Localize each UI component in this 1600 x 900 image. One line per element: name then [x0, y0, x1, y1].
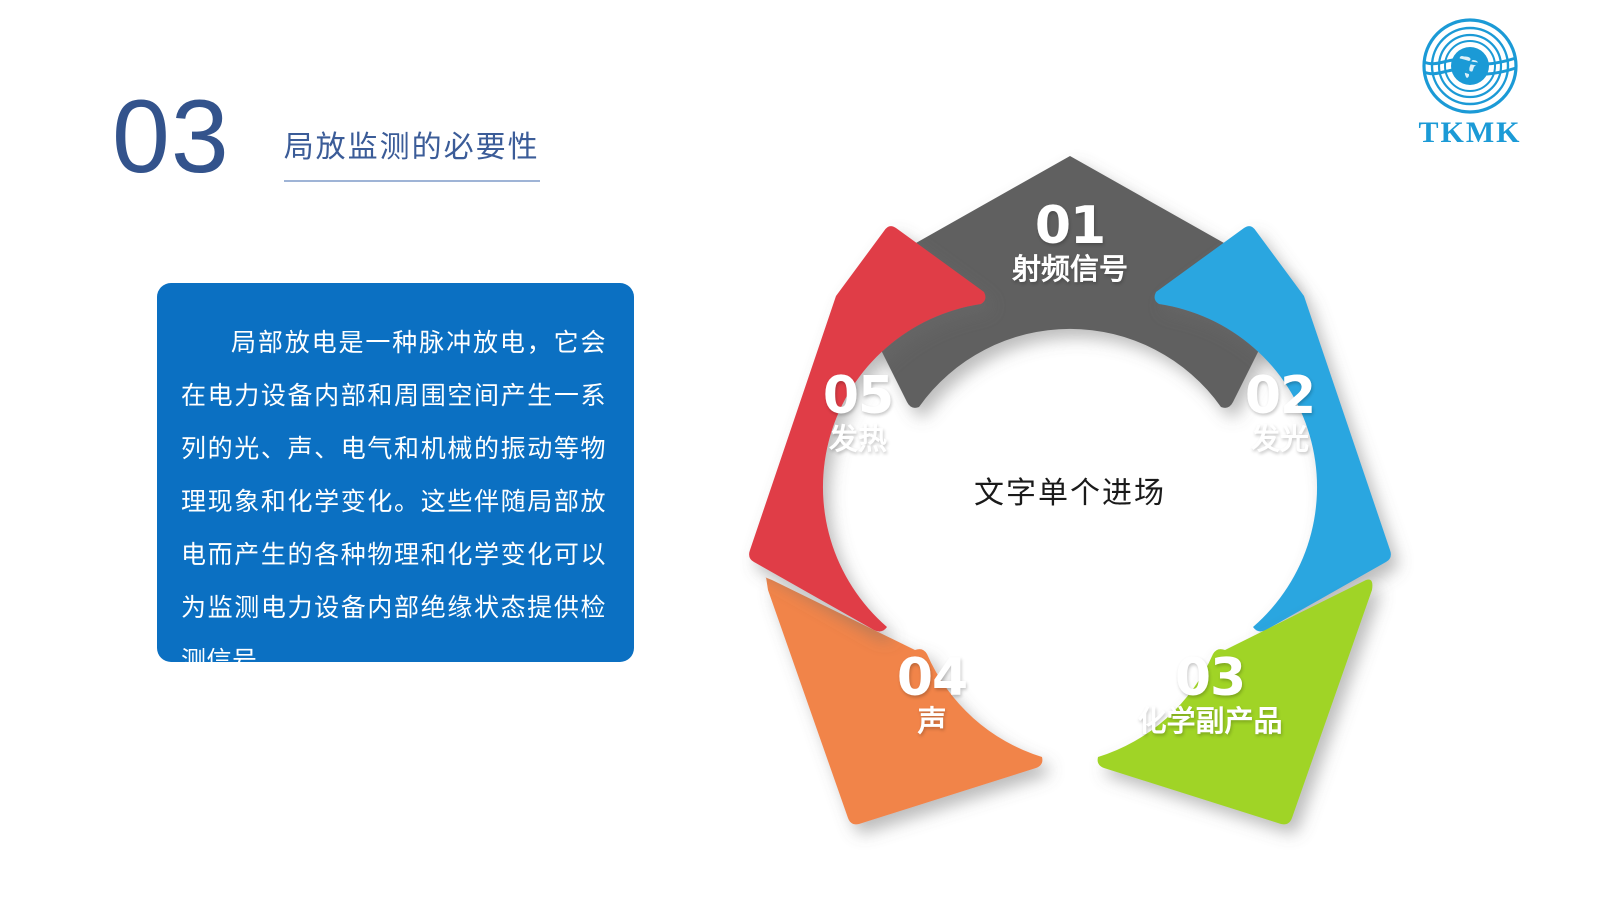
wheel-segment-02[interactable] — [1155, 226, 1391, 631]
globe-rings-icon — [1418, 16, 1522, 120]
description-paragraph: 局部放电是一种脉冲放电，它会在电力设备内部和周围空间产生一系列的光、声、电气和机… — [181, 317, 606, 688]
wheel-segment-04[interactable] — [766, 577, 1043, 824]
wheel-segment-03[interactable] — [1098, 579, 1373, 824]
wheel-center-label: 文字单个进场 — [700, 468, 1440, 512]
page-title: 局放监测的必要性 — [284, 122, 540, 166]
description-card: 局部放电是一种脉冲放电，它会在电力设备内部和周围空间产生一系列的光、声、电气和机… — [157, 283, 634, 662]
pentagon-wheel-diagram: 01 射频信号 02 发光 03 化学副产品 04 声 05 发热 文字单个进场 — [700, 120, 1440, 860]
title-underline — [284, 180, 540, 182]
page-title-block: 局放监测的必要性 — [284, 122, 540, 182]
page-header: 03 局放监测的必要性 — [112, 88, 540, 187]
wheel-segment-05[interactable] — [749, 226, 985, 631]
section-number: 03 — [112, 88, 230, 187]
